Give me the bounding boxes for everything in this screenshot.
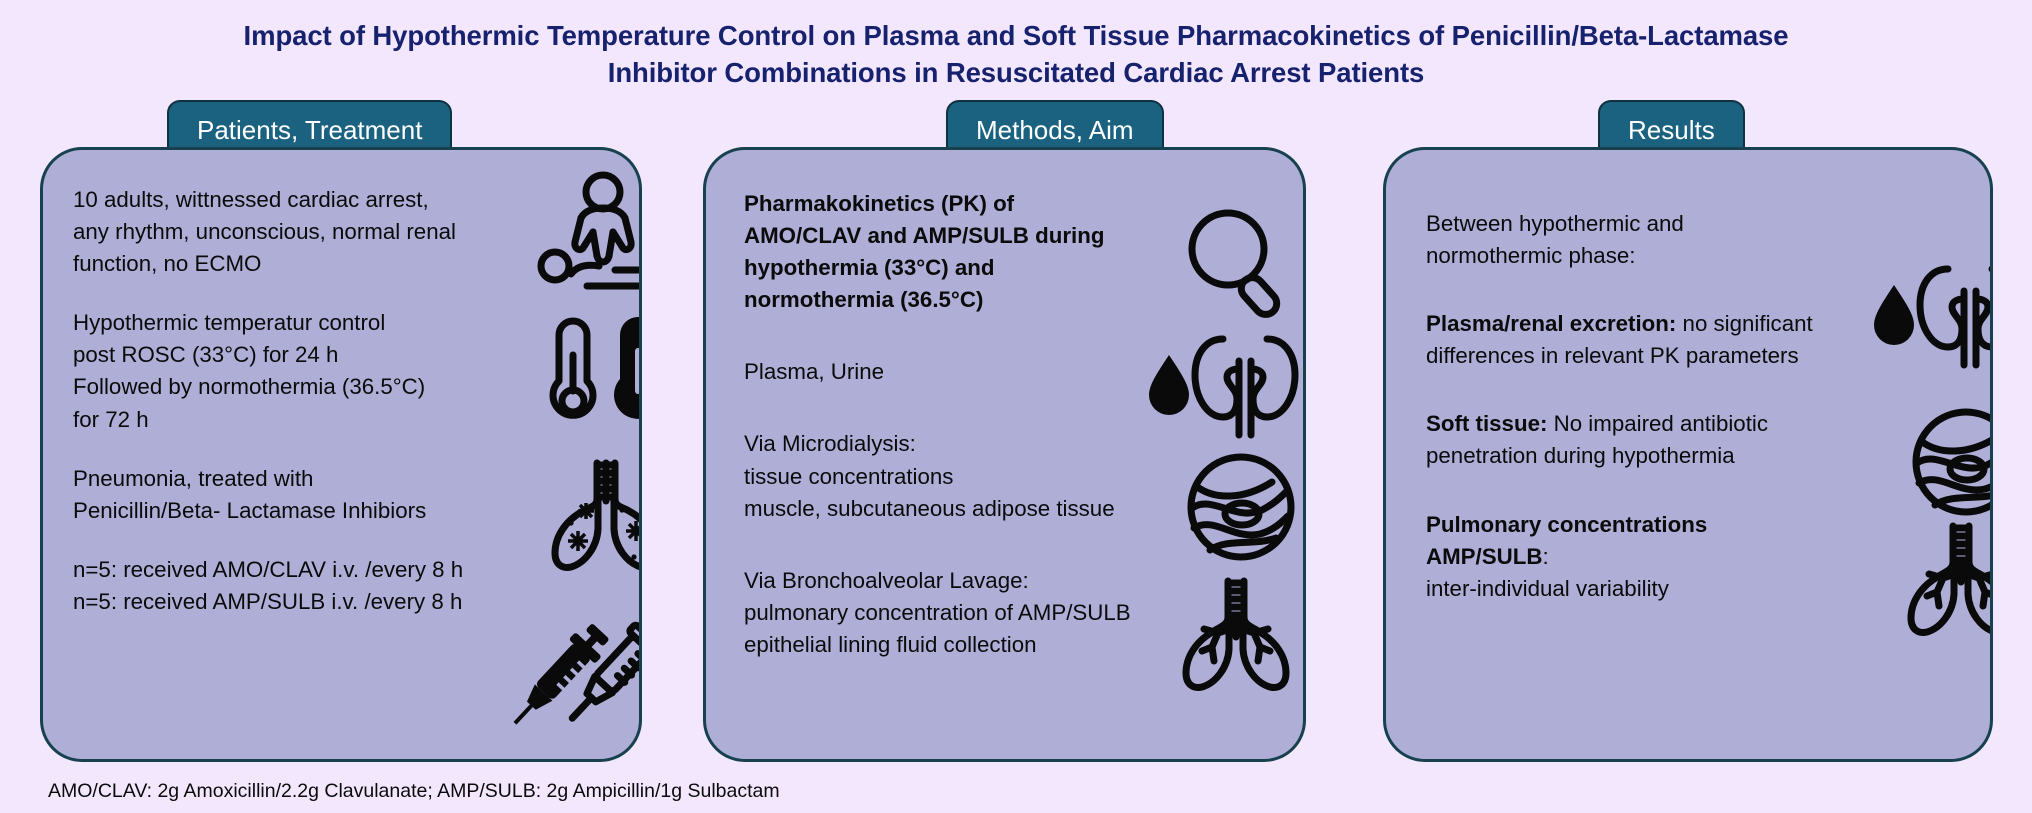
title-line-2: Inhibitor Combinations in Resuscitated C…	[76, 55, 1956, 92]
tissue-section-icon	[1184, 450, 1299, 565]
text-line: n=5: received AMO/CLAV i.v. /every 8 h	[73, 554, 621, 586]
text-fragment: no significant	[1676, 311, 1812, 336]
label-plasma-renal: Plasma/renal excretion:	[1426, 311, 1676, 336]
panel-body-results: Between hypothermic and normothermic pha…	[1383, 147, 1993, 762]
text-line: Between hypothermic and	[1426, 208, 1972, 240]
paragraph-soft-tissue: Soft tissue: No impaired antibiotic pene…	[1426, 408, 1972, 472]
text-line: inter-individual variability	[1426, 573, 1972, 605]
text-line: post ROSC (33°C) for 24 h	[73, 339, 621, 371]
paragraph-pulmonary: Pulmonary concentrations AMP/SULB: inter…	[1426, 509, 1972, 605]
lungs-bronchi-icon	[1174, 575, 1299, 695]
kidneys-droplet-icon	[1139, 325, 1304, 440]
footnote-abbreviations: AMO/CLAV: 2g Amoxicillin/2.2g Clavulanat…	[48, 780, 780, 803]
magnifier-icon	[1184, 205, 1299, 320]
kidneys-droplet-icon	[1864, 255, 1993, 370]
text-line: AMP/SULB:	[1426, 541, 1972, 573]
graphical-abstract: Impact of Hypothermic Temperature Contro…	[0, 0, 2032, 813]
paragraph-temperature-protocol: Hypothermic temperatur control post ROSC…	[73, 307, 621, 435]
label-amp-sulb: AMP/SULB	[1426, 544, 1542, 569]
text-line: any rhythm, unconscious, normal renal	[73, 216, 621, 248]
text-fragment: No impaired antibiotic	[1547, 411, 1768, 436]
cpr-icon	[541, 170, 642, 290]
text-line: Hypothermic temperatur control	[73, 307, 621, 339]
syringe-pair-icon	[498, 605, 642, 745]
text-line: Pneumonia, treated with	[73, 463, 621, 495]
text-line: for 72 h	[73, 404, 621, 436]
text-fragment: :	[1542, 544, 1548, 569]
infected-lungs-icon	[541, 455, 642, 575]
lungs-bronchi-icon	[1899, 520, 1993, 640]
thermometer-pair-icon	[543, 305, 642, 435]
text-line: 10 adults, wittnessed cardiac arrest,	[73, 184, 621, 216]
text-line: Followed by normothermia (36.5°C)	[73, 371, 621, 403]
text-line: Penicillin/Beta- Lactamase Inhibiors	[73, 495, 621, 527]
page-title: Impact of Hypothermic Temperature Contro…	[76, 18, 1956, 91]
text-line: penetration during hypothermia	[1426, 440, 1972, 472]
panel-body-patients-treatment: 10 adults, wittnessed cardiac arrest, an…	[40, 147, 642, 762]
title-line-1: Impact of Hypothermic Temperature Contro…	[76, 18, 1956, 55]
panel-text-patients-treatment: 10 adults, wittnessed cardiac arrest, an…	[73, 184, 621, 618]
text-line: Soft tissue: No impaired antibiotic	[1426, 408, 1972, 440]
paragraph-pneumonia: Pneumonia, treated with Penicillin/Beta-…	[73, 463, 621, 527]
panel-body-methods-aim: Pharmakokinetics (PK) of AMO/CLAV and AM…	[703, 147, 1306, 762]
tissue-section-icon	[1909, 405, 1993, 520]
label-soft-tissue: Soft tissue:	[1426, 411, 1547, 436]
label-pulmonary-concentrations: Pulmonary concentrations	[1426, 509, 1972, 541]
